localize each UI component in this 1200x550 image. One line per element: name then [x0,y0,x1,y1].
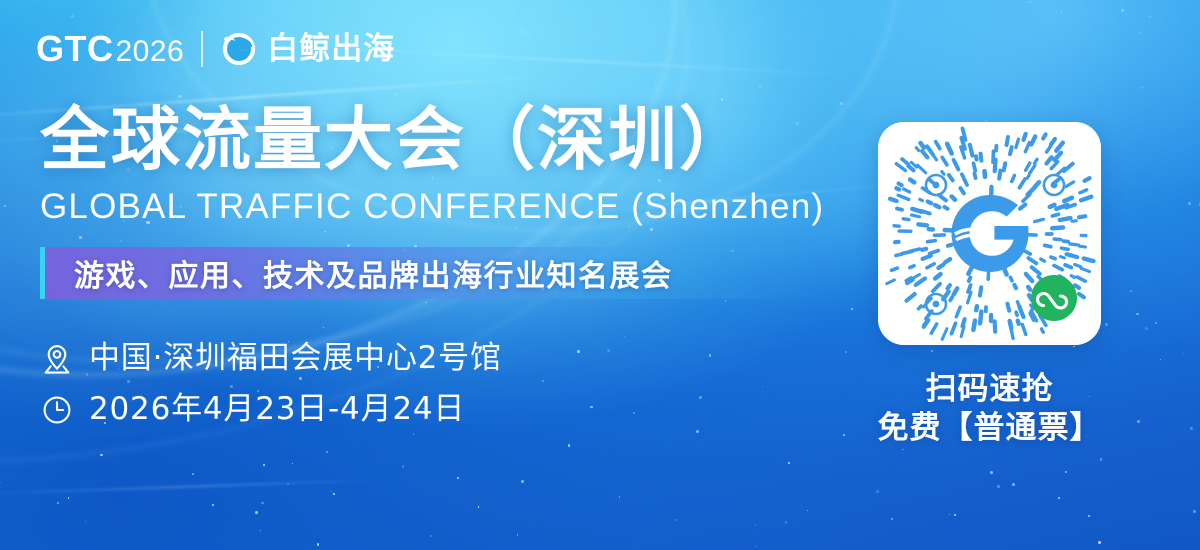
gtc-logo-main: GTC [36,31,114,67]
main-content: 全球流量大会（深圳） GLOBAL TRAFFIC CONFERENCE (Sh… [40,104,860,427]
background-light-streak [0,479,390,496]
whale-g-logo-icon [220,30,258,68]
tagline-text: 游戏、应用、技术及品牌出海行业知名展会 [40,251,673,295]
brand-name: 白鲸出海 [267,34,395,65]
date-text: 2026年4月23日-4月24日 [89,394,465,425]
venue-row: 中国·深圳福田会展中心2号馆 [40,342,860,376]
wechat-miniprogram-qr-icon[interactable] [878,122,1101,345]
clock-icon [40,393,74,427]
cta-text: 扫码速抢 免费【普通票】 [878,370,1102,448]
cta-line-2: 免费【普通票】 [878,409,1102,448]
logo-divider [201,31,203,67]
wechat-miniprogram-badge-icon [1031,275,1077,321]
gtc-logo: GTC 2026 [36,31,184,67]
gtc-logo-year: 2026 [116,37,185,67]
venue-text: 中国·深圳福田会展中心2号馆 [89,343,502,374]
page-title-en: GLOBAL TRAFFIC CONFERENCE (Shenzhen) [40,188,860,227]
page-title-cn: 全球流量大会（深圳） [40,104,860,176]
header-logo-row: GTC 2026 白鲸出海 [36,30,395,68]
conference-banner: GTC 2026 白鲸出海 全球流量大会（深圳） GLOBAL TRAFFIC … [0,0,1200,550]
location-pin-icon [40,342,74,376]
qr-code-card[interactable] [878,122,1101,345]
qr-panel: 扫码速抢 免费【普通票】 [878,122,1101,448]
event-details: 中国·深圳福田会展中心2号馆 2026年4月23日-4月24日 [40,342,860,427]
brand-logo: 白鲸出海 [220,30,395,68]
tagline-banner: 游戏、应用、技术及品牌出海行业知名展会 [40,247,824,299]
cta-line-1: 扫码速抢 [878,370,1102,409]
date-row: 2026年4月23日-4月24日 [40,393,860,427]
